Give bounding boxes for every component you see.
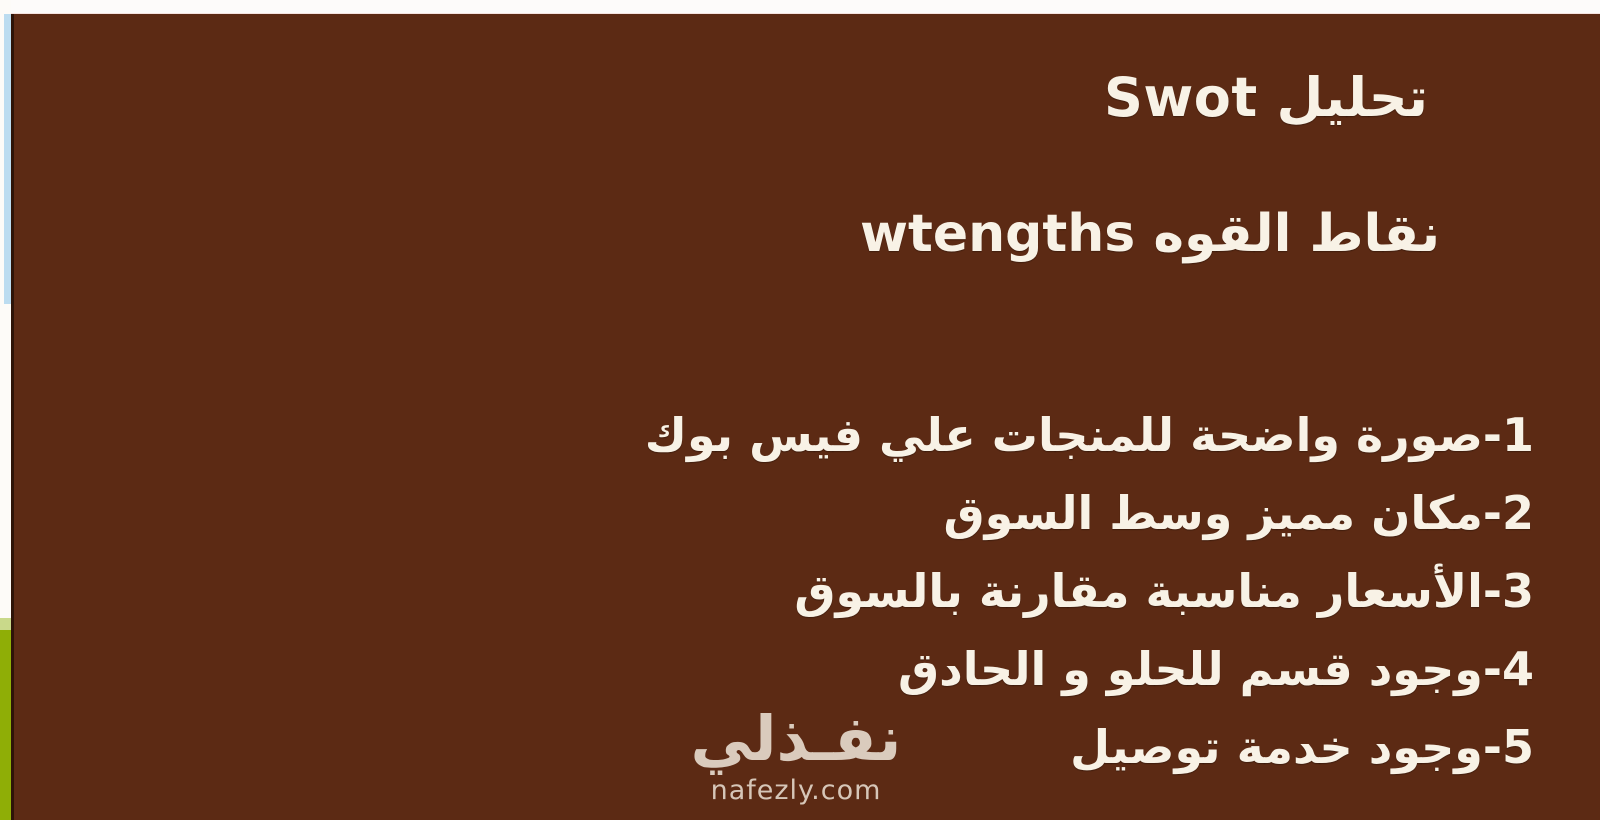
nafezly-watermark: نفـذلي nafezly.com <box>676 708 916 806</box>
list-item: 1-صورة واضحة للمنجات علي فيس بوك <box>645 396 1534 474</box>
watermark-brand-url: nafezly.com <box>676 776 916 806</box>
slide-screenshot: تحليل Swot نقاط القوه wtengths 1-صورة وا… <box>0 0 1600 820</box>
watermark-brand-arabic: نفـذلي <box>676 708 916 770</box>
slide-subheading: نقاط القوه wtengths <box>860 204 1440 264</box>
list-item: 4-وجود قسم للحلو و الحادق <box>645 630 1534 708</box>
presentation-slide: تحليل Swot نقاط القوه wtengths 1-صورة وا… <box>14 14 1600 820</box>
slide-content: تحليل Swot نقاط القوه wtengths 1-صورة وا… <box>14 14 1600 820</box>
left-edge-blue-sliver <box>4 14 11 304</box>
list-item: 3-الأسعار مناسبة مقارنة بالسوق <box>645 552 1534 630</box>
left-edge-green-sliver <box>0 630 11 820</box>
slide-heading: تحليل Swot <box>1104 66 1428 129</box>
left-edge-strip <box>0 0 11 820</box>
top-white-band <box>0 0 1600 14</box>
list-item: 2-مكان مميز وسط السوق <box>645 474 1534 552</box>
